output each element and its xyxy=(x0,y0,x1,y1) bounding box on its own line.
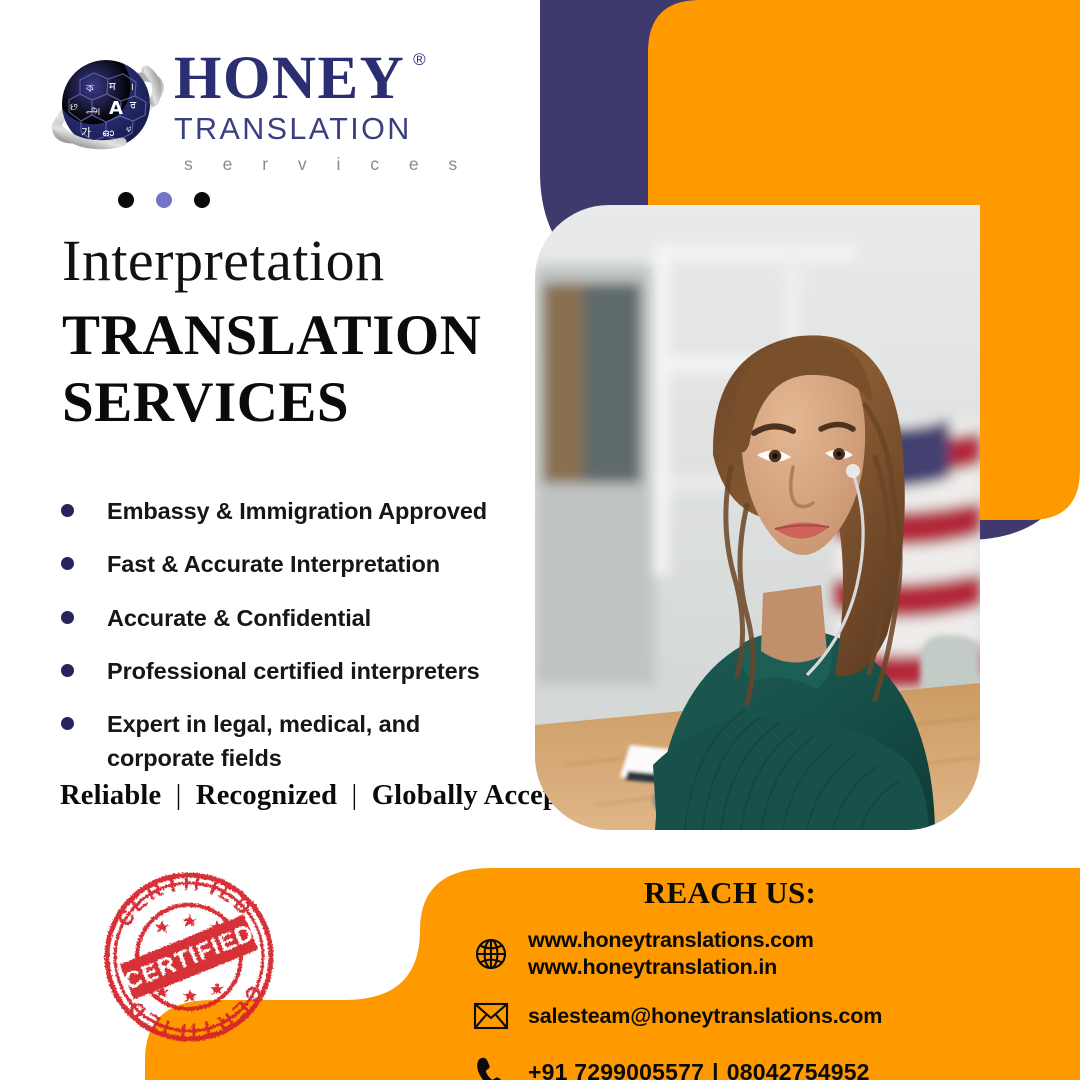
svg-text:છ: છ xyxy=(70,102,78,113)
website-primary[interactable]: www.honeytranslations.com xyxy=(528,928,814,952)
globe-languages-icon: ক म । છ அ A ਰ 가 ഓ ಳ xyxy=(50,48,166,168)
phone-secondary[interactable]: 08042754952 xyxy=(727,1059,870,1080)
bullet-dot-icon xyxy=(61,717,74,730)
svg-text:।: । xyxy=(130,82,134,93)
contact-panel: REACH US: www.honeytranslations.com www.… xyxy=(470,875,1070,1080)
globe-icon xyxy=(470,933,512,975)
svg-text:அ: அ xyxy=(86,103,100,118)
tagline-part-1: Reliable xyxy=(60,780,161,811)
contact-row-email[interactable]: salesteam@honeytranslations.com xyxy=(470,995,1070,1037)
feature-list: Embassy & Immigration Approved Fast & Ac… xyxy=(55,495,535,795)
logo-subline-translation: TRANSLATION xyxy=(174,112,470,147)
contact-row-website[interactable]: www.honeytranslations.com www.honeytrans… xyxy=(470,927,1070,981)
phone-numbers[interactable]: +91 7299005577|08042754952 xyxy=(528,1058,870,1080)
headline-bold-line-2: SERVICES xyxy=(62,369,532,436)
certified-stamp-icon: CERTIFIED CERTIFIED CERTIFIED xyxy=(100,868,278,1046)
dot-black-left xyxy=(118,192,134,208)
list-item: Professional certified interpreters xyxy=(55,655,535,688)
bullet-dot-icon xyxy=(61,664,74,677)
svg-text:A: A xyxy=(109,98,123,119)
bullet-dot-icon xyxy=(61,557,74,570)
phone-separator: | xyxy=(704,1059,727,1080)
logo-dot-divider xyxy=(50,191,278,209)
bullet-dot-icon xyxy=(61,504,74,517)
list-item: Embassy & Immigration Approved xyxy=(55,495,535,528)
bullet-dot-icon xyxy=(61,611,74,624)
contact-panel-title: REACH US: xyxy=(530,875,930,911)
list-item: Fast & Accurate Interpretation xyxy=(55,548,535,581)
contact-row-phone[interactable]: +91 7299005577|08042754952 xyxy=(470,1051,1070,1080)
list-item-label: Fast & Accurate Interpretation xyxy=(107,548,440,581)
headline-block: Interpretation TRANSLATION SERVICES xyxy=(62,232,532,437)
tagline-part-2: Recognized xyxy=(196,780,337,811)
tagline-separator-1: | xyxy=(169,780,189,811)
dot-periwinkle xyxy=(156,192,172,208)
email-address[interactable]: salesteam@honeytranslations.com xyxy=(528,1003,882,1030)
list-item-label: Accurate & Confidential xyxy=(107,602,371,635)
poster-canvas: ক म । છ அ A ਰ 가 ഓ ಳ xyxy=(0,0,1080,1080)
headline-bold-block: TRANSLATION SERVICES xyxy=(62,302,532,437)
dot-black-right xyxy=(194,192,210,208)
headline-bold-line-1: TRANSLATION xyxy=(62,302,532,369)
svg-text:ক: ক xyxy=(85,82,94,95)
tagline: Reliable | Recognized | Globally Accepte… xyxy=(60,780,598,812)
svg-text:ಳ: ಳ xyxy=(126,124,132,135)
logo-wordmark: HONEY ® xyxy=(174,50,405,108)
logo-name-text: HONEY xyxy=(174,45,405,112)
brand-logo: ক म । છ அ A ਰ 가 ഓ ಳ xyxy=(50,44,470,209)
svg-text:가: 가 xyxy=(81,126,91,139)
website-links[interactable]: www.honeytranslations.com www.honeytrans… xyxy=(528,927,814,981)
logo-subline-services: s e r v i c e s xyxy=(174,154,470,175)
list-item-label: Expert in legal, medical, and corporate … xyxy=(107,708,452,775)
phone-primary[interactable]: +91 7299005577 xyxy=(528,1059,704,1080)
headline-script-line: Interpretation xyxy=(62,232,532,290)
svg-text:ਰ: ਰ xyxy=(129,100,137,111)
list-item-label: Professional certified interpreters xyxy=(107,655,480,688)
envelope-icon xyxy=(470,995,512,1037)
registered-trademark-icon: ® xyxy=(413,52,427,68)
list-item-label: Embassy & Immigration Approved xyxy=(107,495,487,528)
svg-text:म: म xyxy=(109,80,116,93)
website-secondary[interactable]: www.honeytranslation.in xyxy=(528,955,777,979)
svg-text:ഓ: ഓ xyxy=(102,128,114,139)
phone-icon xyxy=(470,1051,512,1080)
list-item: Expert in legal, medical, and corporate … xyxy=(55,708,535,775)
list-item: Accurate & Confidential xyxy=(55,602,535,635)
tagline-separator-2: | xyxy=(345,780,365,811)
interpreter-photo xyxy=(535,205,980,830)
